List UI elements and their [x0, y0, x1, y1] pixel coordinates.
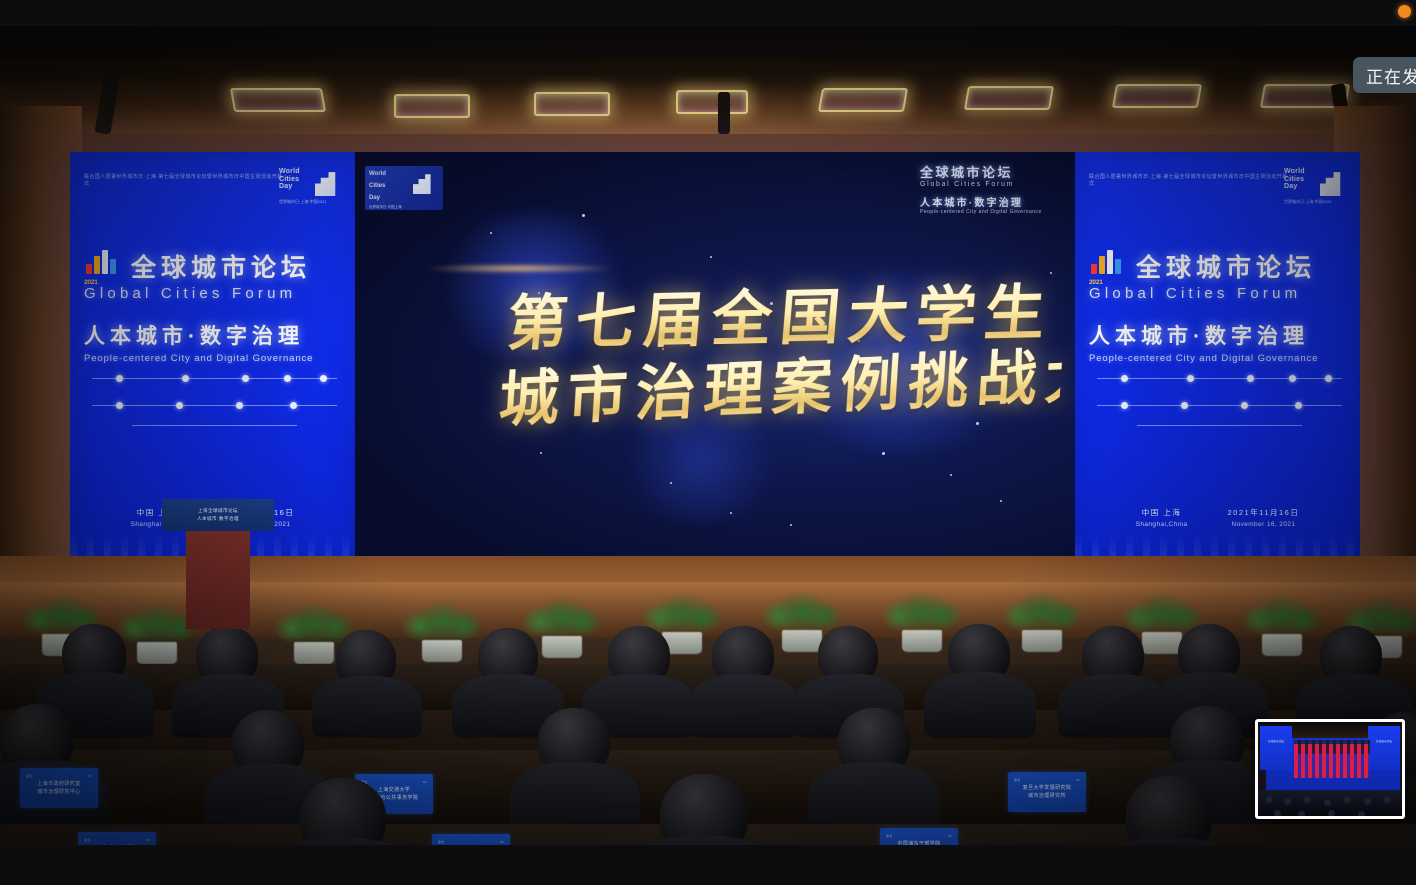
speaking-status-label: 正在发言: [1366, 63, 1416, 88]
speaker-podium: 上海全球城市论坛 人本城市·数字治理: [172, 499, 264, 629]
ceiling-truss: [94, 67, 121, 135]
ceiling-light: [1112, 84, 1202, 108]
world-cities-day-logo: World Cities Day 世界城市日·上海·中国2021: [1284, 168, 1348, 204]
placard-line2: 城市治理研究所: [1008, 792, 1086, 800]
seat-placard: 席位 05 同济大学 建筑与城市规划学院: [432, 834, 510, 845]
letterbox-bottom: [0, 845, 1416, 885]
placard-line1: 上海市政府研究室: [20, 780, 98, 788]
banner-place-en: Shanghai,China: [1136, 521, 1188, 528]
banner-fineprint: 联合国人居署世界城市日·上海·第七届全球城市论坛暨世界城市日中国主场活动开幕式: [84, 174, 284, 188]
pip-banner-label: 全球城市论坛: [1260, 726, 1292, 744]
audience-head: [300, 778, 386, 845]
wcd-sub: 世界城市日·上海·中国2021: [1284, 199, 1348, 204]
forum-theme-en: People-centered City and Digital Governa…: [84, 353, 340, 364]
banner-fineprint: 联合国人居署世界城市日·上海·第七届全球城市论坛暨世界城市日中国主场活动开幕式: [1089, 174, 1289, 188]
seat-placard: 席位 01 上海市政府研究室 城市治理研究中心: [20, 768, 98, 808]
mini-wcd-line1: World: [365, 166, 443, 178]
forum-title-cn: 全球城市论坛: [1136, 255, 1316, 282]
placard-line1: 复旦大学发展研究院: [1008, 784, 1086, 792]
placard-tag-left: 席位: [84, 836, 91, 844]
video-stream[interactable]: World Cities Day 世界城市日·中国上海 全球城市论坛 Globa…: [0, 26, 1416, 845]
podium-sign-line2: 人本城市·数字治理: [164, 515, 272, 523]
event-title: 第七届全国大学生 城市治理案例挑战大赛: [500, 282, 1060, 426]
mini-forum-title-cn: 全球城市论坛: [920, 162, 1060, 181]
banner-place-cn: 中国 上海: [1136, 507, 1188, 518]
podium-sign-line1: 上海全球城市论坛: [164, 507, 272, 515]
forum-logo-icon: 2021: [84, 248, 124, 282]
letterbox-top: [0, 0, 1416, 26]
banner-footer: 中国 上海 Shanghai,China 2021年11月16日 Novembe…: [1075, 507, 1360, 528]
pip-banner-left: 全球城市论坛: [1260, 726, 1292, 770]
pip-group-row-front: [1294, 744, 1370, 778]
mini-wcd-sub: 世界城市日·中国上海: [365, 202, 443, 210]
placard-tag-left: 席位: [886, 832, 893, 840]
forum-year: 2021: [84, 279, 98, 286]
placard-tag-right: 01: [88, 772, 92, 780]
video-call-stage: World Cities Day 世界城市日·中国上海 全球城市论坛 Globa…: [0, 0, 1416, 885]
audience-shoulders: [312, 676, 422, 738]
stage-plant: [400, 592, 484, 664]
banner-date-en: November 16, 2021: [1228, 521, 1300, 528]
mini-wcd-line2: Cities: [365, 178, 443, 190]
podium-sign: 上海全球城市论坛 人本城市·数字治理: [164, 503, 272, 527]
mini-forum-theme-en: People-centered City and Digital Governa…: [920, 209, 1060, 215]
ceiling-light: [676, 90, 748, 114]
podium-header-panel: 上海全球城市论坛 人本城市·数字治理: [162, 499, 274, 531]
ceiling-truss: [718, 92, 730, 134]
seat-placard: 席位 03 复旦大学发展研究院 城市治理研究所: [1008, 772, 1086, 812]
audience-shoulders: [688, 674, 800, 738]
pip-video: 全球城市论坛 全球城市论坛: [1258, 722, 1402, 816]
seat-placard: 席位 06 中国浦东干部学院 教学研究部: [880, 828, 958, 845]
ceiling-light: [818, 88, 908, 112]
forum-year: 2021: [1089, 279, 1103, 286]
mini-wcd-line3: Day: [365, 190, 443, 202]
ceiling-shadow: [0, 26, 1416, 60]
world-cities-day-mini-logo: World Cities Day 世界城市日·中国上海: [365, 166, 443, 210]
wcd-sub: 世界城市日·上海·中国2021: [279, 199, 343, 204]
stage-plant: [1240, 586, 1324, 658]
forum-title-cn: 全球城市论坛: [131, 255, 311, 282]
lens-flare: [425, 264, 615, 273]
ceiling-light: [230, 88, 326, 112]
audience-head: [660, 774, 748, 845]
speaking-status-badge: 正在发言: [1353, 57, 1416, 93]
placard-tag-left: 席位: [26, 772, 33, 780]
mini-forum-banner: 全球城市论坛 Global Cities Forum 人本城市·数字治理 Peo…: [920, 162, 1060, 215]
forum-theme-cn: 人本城市·数字治理: [84, 320, 340, 350]
mini-forum-title-en: Global Cities Forum: [920, 181, 1060, 188]
placard-tag-right: 02: [423, 778, 427, 786]
pip-thumbnail[interactable]: 全球城市论坛 全球城市论坛: [1255, 719, 1405, 819]
world-cities-day-logo: World Cities Day 世界城市日·上海·中国2021: [279, 168, 343, 204]
forum-title-block: 2021 全球城市论坛 Global Cities Forum 人本城市·数字治…: [84, 248, 340, 364]
ceiling-light: [394, 94, 470, 118]
placard-tag-right: 06: [948, 832, 952, 840]
audience-head: [1126, 776, 1212, 845]
placard-tag-left: 席位: [1014, 776, 1021, 784]
audience-shoulders: [924, 672, 1036, 738]
pip-banner-label: 全球城市论坛: [1368, 726, 1400, 744]
placard-tag-left: 席位: [438, 838, 445, 845]
placard-tag-right: 05: [500, 838, 504, 845]
ceiling-light: [964, 86, 1054, 110]
mini-forum-theme-cn: 人本城市·数字治理: [920, 194, 1060, 209]
seat-placard: 席位 04 上海市城市规划 设计研究院: [78, 832, 156, 845]
placard-line2: 城市治理研究中心: [20, 788, 98, 796]
banner-date-cn: 2021年11月16日: [1228, 507, 1300, 518]
ceiling-light: [534, 92, 610, 116]
forum-title-en: Global Cities Forum: [84, 285, 340, 302]
pip-banner-right: 全球城市论坛: [1368, 726, 1400, 770]
placard-tag-right: 04: [146, 836, 150, 844]
forum-title-en: Global Cities Forum: [1089, 285, 1345, 302]
recording-indicator-icon: [1398, 5, 1411, 18]
podium-body: [186, 531, 250, 629]
stage-plant: [1000, 582, 1084, 654]
placard-tag-right: 03: [1076, 776, 1080, 784]
forum-logo-icon: 2021: [1089, 248, 1129, 282]
forum-timeline-graphic: [92, 367, 337, 427]
pip-audience: [1258, 790, 1405, 819]
